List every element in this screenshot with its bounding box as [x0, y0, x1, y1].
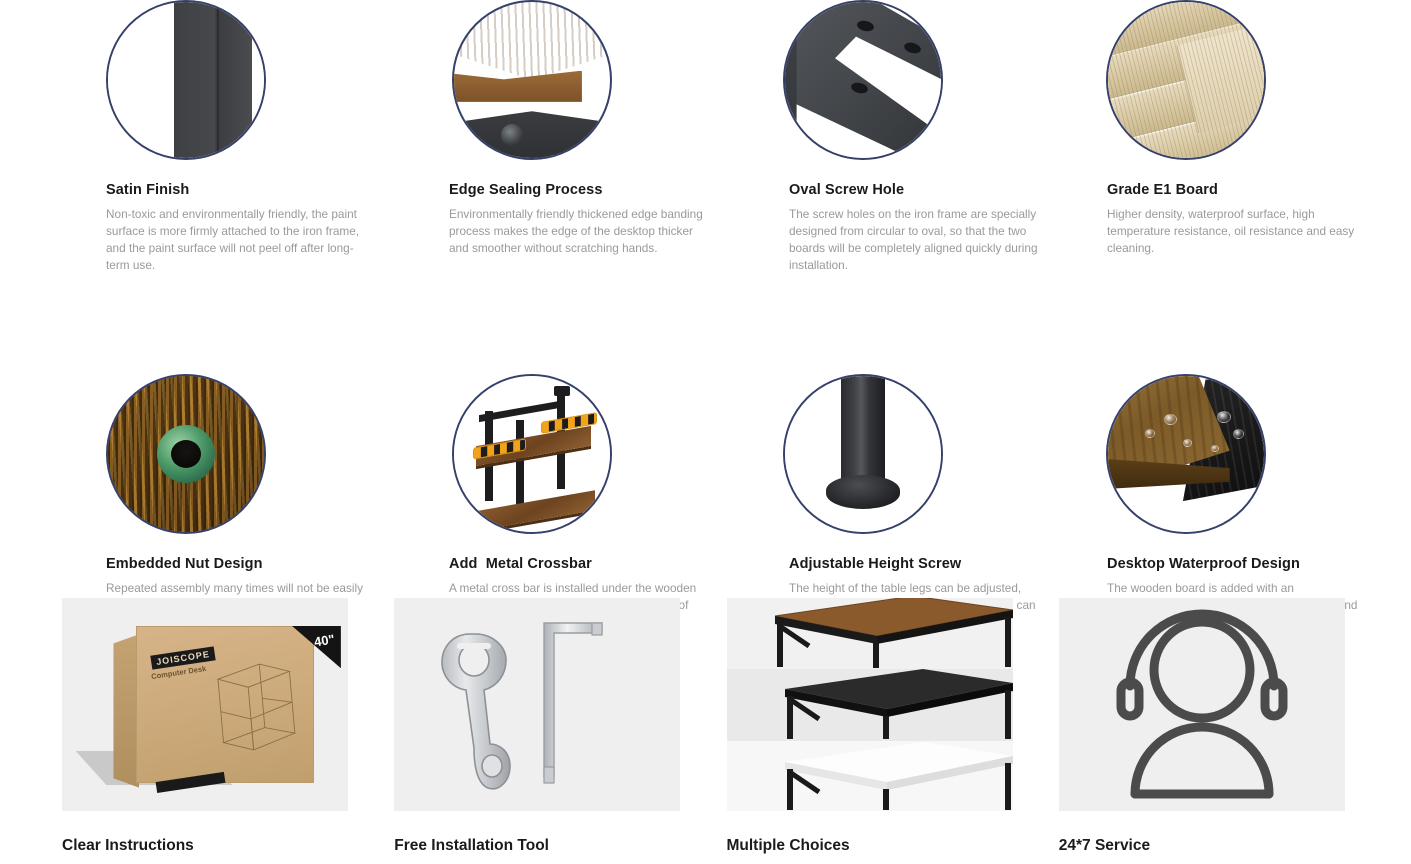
tile-label: Multiple Choices: [727, 837, 1017, 855]
feature-description: The screw holes on the iron frame are sp…: [789, 206, 1047, 274]
metal-crossbar-photo: [452, 374, 612, 534]
feature-description: Environmentally friendly thickened edge …: [449, 206, 707, 257]
desk-black-option: [727, 667, 1013, 739]
desk-rustic-option: [727, 598, 1013, 668]
service-tile-row: 40" JOISCOPE Computer Desk Clear Instruc…: [0, 598, 1411, 855]
adjustable-height-screw-photo: [783, 374, 943, 534]
desk-line-drawing-icon: [201, 653, 312, 760]
customer-service-headset-icon: [1059, 598, 1345, 811]
feature-card-embedded-nut-design: Embedded Nut Design Repeated assembly ma…: [64, 374, 404, 631]
tile-label: Clear Instructions: [62, 837, 352, 855]
feature-title: Add Metal Crossbar: [449, 556, 744, 572]
wrench-and-hex-key-photo: [394, 598, 680, 811]
tile-label: Free Installation Tool: [394, 837, 684, 855]
hex-key-icon: [532, 617, 642, 789]
tile-multiple-choices: Multiple Choices: [727, 598, 1017, 855]
wrench-icon: [440, 628, 536, 796]
feature-card-edge-sealing-process: Edge Sealing Process Environmentally fri…: [404, 0, 744, 274]
feature-card-grade-e1-board: Grade E1 Board Higher density, waterproo…: [1064, 0, 1405, 274]
product-feature-page: Satin Finish Non-toxic and environmental…: [0, 0, 1411, 864]
desk-white-option: [727, 738, 1013, 810]
feature-title: Grade E1 Board: [1107, 182, 1405, 198]
feature-card-oval-screw-hole: Oval Screw Hole The screw holes on the i…: [744, 0, 1064, 274]
embedded-nut-photo: [106, 374, 266, 534]
feature-title: Desktop Waterproof Design: [1107, 556, 1405, 572]
feature-title: Embedded Nut Design: [106, 556, 404, 572]
tile-label: 24*7 Service: [1059, 837, 1349, 855]
size-badge-label: 40": [313, 632, 336, 650]
headset-person-icon: [1059, 598, 1345, 811]
feature-grid: Satin Finish Non-toxic and environmental…: [0, 0, 1411, 632]
tile-service: 24*7 Service: [1059, 598, 1349, 855]
edge-sealing-photo: [452, 0, 612, 160]
feature-description: Higher density, waterproof surface, high…: [1107, 206, 1365, 257]
tile-free-installation-tool: Free Installation Tool: [394, 598, 684, 855]
feature-card-satin-finish: Satin Finish Non-toxic and environmental…: [64, 0, 404, 274]
desktop-waterproof-photo: [1106, 374, 1266, 534]
grade-e1-board-photo: [1106, 0, 1266, 160]
feature-card-adjustable-height-screw: Adjustable Height Screw The height of th…: [744, 374, 1064, 631]
tile-clear-instructions: 40" JOISCOPE Computer Desk Clear Instruc…: [62, 598, 352, 855]
feature-title: Edge Sealing Process: [449, 182, 744, 198]
package-box-photo: 40" JOISCOPE Computer Desk: [62, 598, 348, 811]
feature-title: Oval Screw Hole: [789, 182, 1064, 198]
feature-card-desktop-waterproof-design: Desktop Waterproof Design The wooden boa…: [1064, 374, 1405, 631]
desk-color-options-photo: [727, 598, 1013, 811]
feature-card-add-metal-crossbar: Add Metal Crossbar A metal cross bar is …: [404, 374, 744, 631]
feature-title: Satin Finish: [106, 182, 404, 198]
oval-screw-hole-photo: [783, 0, 943, 160]
feature-description: Non-toxic and environmentally friendly, …: [106, 206, 364, 274]
feature-title: Adjustable Height Screw: [789, 556, 1064, 572]
satin-finish-photo: [106, 0, 266, 160]
